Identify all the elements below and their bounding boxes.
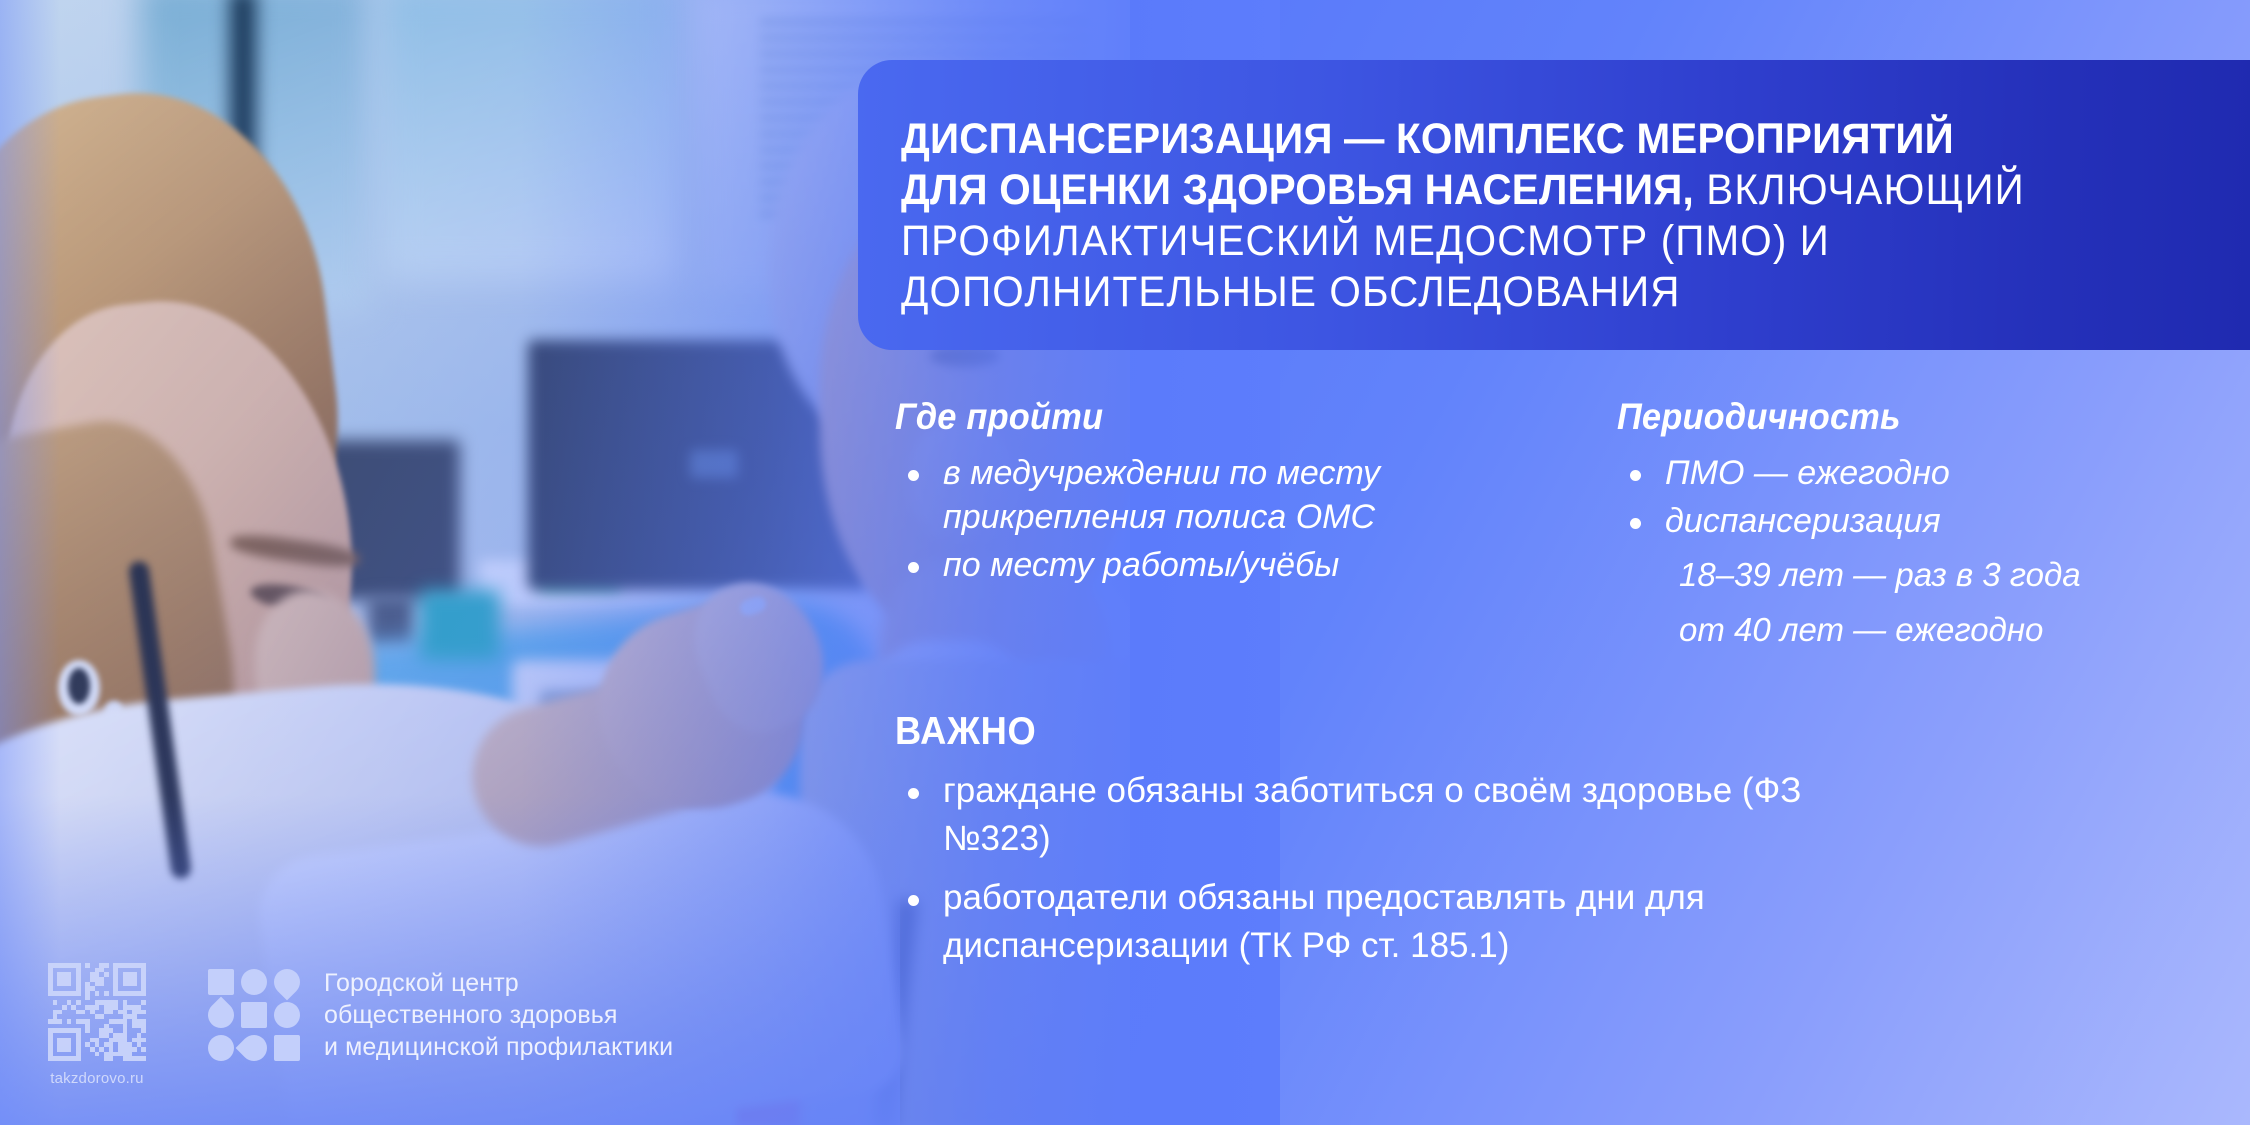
list-item: по месту работы/учёбы bbox=[895, 543, 1535, 587]
logo-heart-icon bbox=[236, 1030, 273, 1067]
qr-url-label: takzdorovo.ru bbox=[48, 1070, 146, 1087]
section-frequency: Периодичность ПМО — ежегодно диспансериз… bbox=[1617, 398, 2217, 653]
section-frequency-list: ПМО — ежегодно диспансеризация bbox=[1617, 451, 2217, 543]
section-important: ВАЖНО граждане обязаны заботиться о своё… bbox=[895, 712, 1905, 980]
list-item: работодатели обязаны предоставлять дни д… bbox=[895, 874, 1905, 971]
organization-logo: Городской центр общественного здоровья и… bbox=[208, 967, 673, 1063]
qr-block: takzdorovo.ru bbox=[48, 963, 152, 1087]
title-line-2-light: ВКЛЮЧАЮЩИЙ bbox=[1694, 166, 2025, 214]
section-important-heading: ВАЖНО bbox=[895, 712, 1834, 751]
section-frequency-heading: Периодичность bbox=[1617, 398, 2175, 435]
list-item: граждане обязаны заботиться о своём здор… bbox=[895, 767, 1905, 864]
logo-square-icon bbox=[208, 969, 234, 995]
list-item: в медучреждении по месту прикрепления по… bbox=[895, 451, 1535, 539]
photo-left-edge-glow bbox=[0, 0, 60, 1125]
title-line-4: ДОПОЛНИТЕЛЬНЫЕ ОБСЛЕДОВАНИЯ bbox=[901, 267, 2131, 318]
logo-heart-icon bbox=[269, 964, 306, 1001]
footer: takzdorovo.ru Городской центр общественн… bbox=[48, 963, 673, 1087]
logo-square-icon bbox=[274, 1035, 300, 1061]
logo-square-icon bbox=[241, 1002, 267, 1028]
section-where: Где пройти в медучреждении по месту прик… bbox=[895, 398, 1535, 592]
organization-name-line-2: общественного здоровья bbox=[324, 999, 673, 1031]
infographic-poster: ДИСПАНСЕРИЗАЦИЯ — КОМПЛЕКС МЕРОПРИЯТИЙ Д… bbox=[0, 0, 2250, 1125]
logo-heart-icon bbox=[203, 997, 240, 1034]
organization-name-line-3: и медицинской профилактики bbox=[324, 1031, 673, 1063]
logo-circle-icon bbox=[274, 1002, 300, 1028]
logo-circle-icon bbox=[241, 969, 267, 995]
title-line-2: ДЛЯ ОЦЕНКИ ЗДОРОВЬЯ НАСЕЛЕНИЯ, ВКЛЮЧАЮЩИ… bbox=[901, 165, 2131, 216]
title-line-1: ДИСПАНСЕРИЗАЦИЯ — КОМПЛЕКС МЕРОПРИЯТИЙ bbox=[901, 114, 2131, 165]
title-panel: ДИСПАНСЕРИЗАЦИЯ — КОМПЛЕКС МЕРОПРИЯТИЙ Д… bbox=[858, 60, 2250, 350]
frequency-subline-2: от 40 лет — ежегодно bbox=[1617, 608, 2217, 653]
section-where-list: в медучреждении по месту прикрепления по… bbox=[895, 451, 1535, 588]
logo-circle-icon bbox=[208, 1035, 234, 1061]
logo-grid-icon bbox=[208, 969, 300, 1061]
section-where-heading: Где пройти bbox=[895, 398, 1490, 435]
section-important-list: граждане обязаны заботиться о своём здор… bbox=[895, 767, 1905, 970]
organization-name: Городской центр общественного здоровья и… bbox=[324, 967, 673, 1063]
list-item: диспансеризация bbox=[1617, 499, 2217, 543]
title-line-3: ПРОФИЛАКТИЧЕСКИЙ МЕДОСМОТР (ПМО) И bbox=[901, 216, 2131, 267]
qr-code-icon[interactable] bbox=[48, 963, 146, 1061]
title-line-2-strong: ДЛЯ ОЦЕНКИ ЗДОРОВЬЯ НАСЕЛЕНИЯ, bbox=[901, 166, 1694, 214]
frequency-subline-1: 18–39 лет — раз в 3 года bbox=[1617, 553, 2217, 598]
list-item: ПМО — ежегодно bbox=[1617, 451, 2217, 495]
organization-name-line-1: Городской центр bbox=[324, 967, 673, 999]
